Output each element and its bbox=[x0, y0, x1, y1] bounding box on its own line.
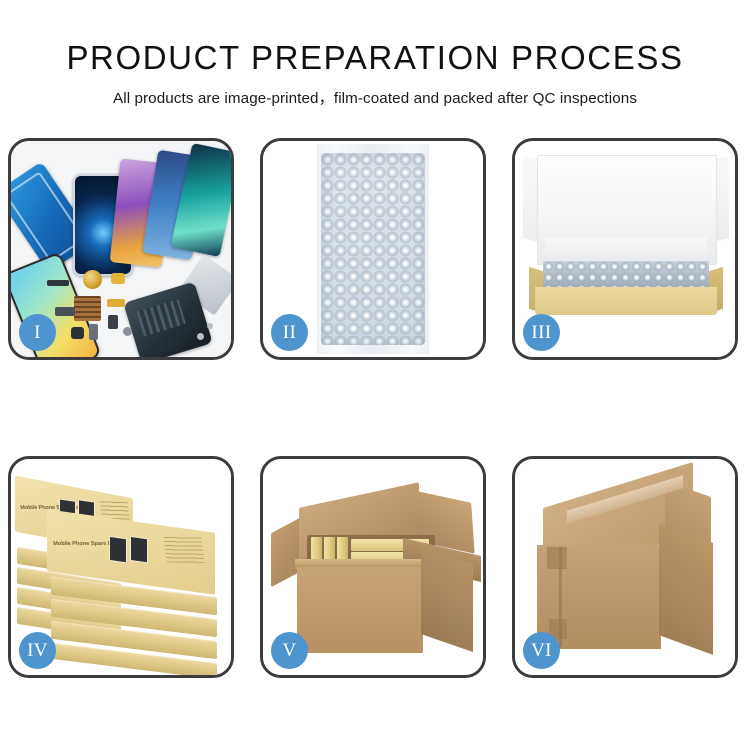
step-badge-2: II bbox=[271, 314, 308, 351]
process-step-grid: I II III bbox=[8, 138, 742, 694]
small-part bbox=[55, 307, 75, 316]
step-badge-1: I bbox=[19, 314, 56, 351]
screw-part bbox=[207, 323, 213, 329]
process-step-panel-4: Mobile Phone Spare Parts Mobile Phone Sp… bbox=[8, 456, 234, 678]
product-swatch bbox=[130, 536, 148, 564]
header: PRODUCT PREPARATION PROCESS All products… bbox=[0, 0, 750, 109]
process-step-panel-5: V bbox=[260, 456, 486, 678]
process-step-panel-1: I bbox=[8, 138, 234, 360]
mailer-front-panel bbox=[535, 287, 717, 315]
spec-text-lines bbox=[164, 536, 205, 563]
carton-tab bbox=[547, 547, 567, 569]
small-part bbox=[47, 280, 69, 286]
product-preparation-infographic: PRODUCT PREPARATION PROCESS All products… bbox=[0, 0, 750, 750]
bubble-wrapped-contents bbox=[543, 261, 709, 289]
step-badge-4: IV bbox=[19, 632, 56, 669]
process-step-panel-2: II bbox=[260, 138, 486, 360]
bubble-wrap-sheet bbox=[321, 153, 425, 345]
process-step-panel-6: VI bbox=[512, 456, 738, 678]
page-subtitle: All products are image-printed，film-coat… bbox=[0, 78, 750, 109]
page-title: PRODUCT PREPARATION PROCESS bbox=[0, 0, 750, 78]
carton-side-panel bbox=[421, 546, 473, 652]
chip-array-part bbox=[74, 296, 101, 321]
product-swatch bbox=[109, 536, 127, 564]
process-step-panel-3: III bbox=[512, 138, 738, 360]
step-badge-5: V bbox=[271, 632, 308, 669]
battery-part bbox=[89, 324, 98, 340]
screw-part bbox=[197, 333, 204, 340]
flex-cable-part bbox=[107, 299, 125, 307]
carton-front-panel bbox=[297, 567, 423, 653]
carton-side-panel bbox=[659, 523, 713, 655]
screw-part bbox=[123, 327, 132, 336]
copper-coil-part bbox=[83, 270, 102, 289]
step-badge-3: III bbox=[523, 314, 560, 351]
small-part bbox=[108, 315, 118, 329]
step-badge-6: VI bbox=[523, 632, 560, 669]
flex-cable-part bbox=[111, 273, 125, 284]
camera-module-part bbox=[71, 327, 84, 339]
